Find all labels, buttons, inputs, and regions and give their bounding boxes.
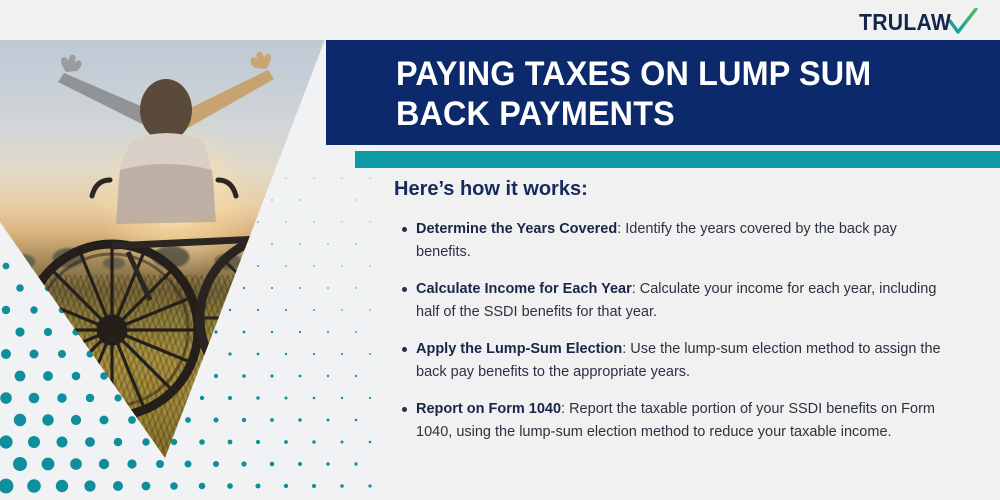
teal-accent-bar [355, 151, 1000, 168]
body-block: Here’s how it works: Determine the Years… [394, 176, 954, 444]
bullet-dot-icon [402, 287, 407, 292]
logo-wordmark: TRULAW [859, 11, 951, 34]
title-bar: PAYING TAXES ON LUMP SUM BACK PAYMENTS [326, 40, 1000, 145]
checkmark-icon [948, 8, 978, 36]
step-label: Report on Form 1040 [416, 401, 561, 417]
list-item: Report on Form 1040: Report the taxable … [394, 398, 954, 444]
step-label: Determine the Years Covered [416, 221, 617, 237]
list-item: Apply the Lump-Sum Election: Use the lum… [394, 338, 954, 384]
infographic-canvas: TRULAW PAYING TAXES ON LUMP SUM BACK PAY… [0, 0, 1000, 500]
step-label: Calculate Income for Each Year [416, 281, 632, 297]
list-item: Calculate Income for Each Year: Calculat… [394, 278, 954, 324]
steps-list: Determine the Years Covered: Identify th… [394, 218, 954, 444]
bullet-dot-icon [402, 227, 407, 232]
list-item: Determine the Years Covered: Identify th… [394, 218, 954, 264]
bullet-dot-icon [402, 347, 407, 352]
page-title: PAYING TAXES ON LUMP SUM BACK PAYMENTS [396, 54, 947, 134]
section-kicker: Here’s how it works: [394, 176, 954, 202]
bullet-dot-icon [402, 407, 407, 412]
trulaw-logo[interactable]: TRULAW [851, 8, 978, 36]
content-column: TRULAW PAYING TAXES ON LUMP SUM BACK PAY… [0, 0, 1000, 500]
step-label: Apply the Lump-Sum Election [416, 341, 622, 357]
